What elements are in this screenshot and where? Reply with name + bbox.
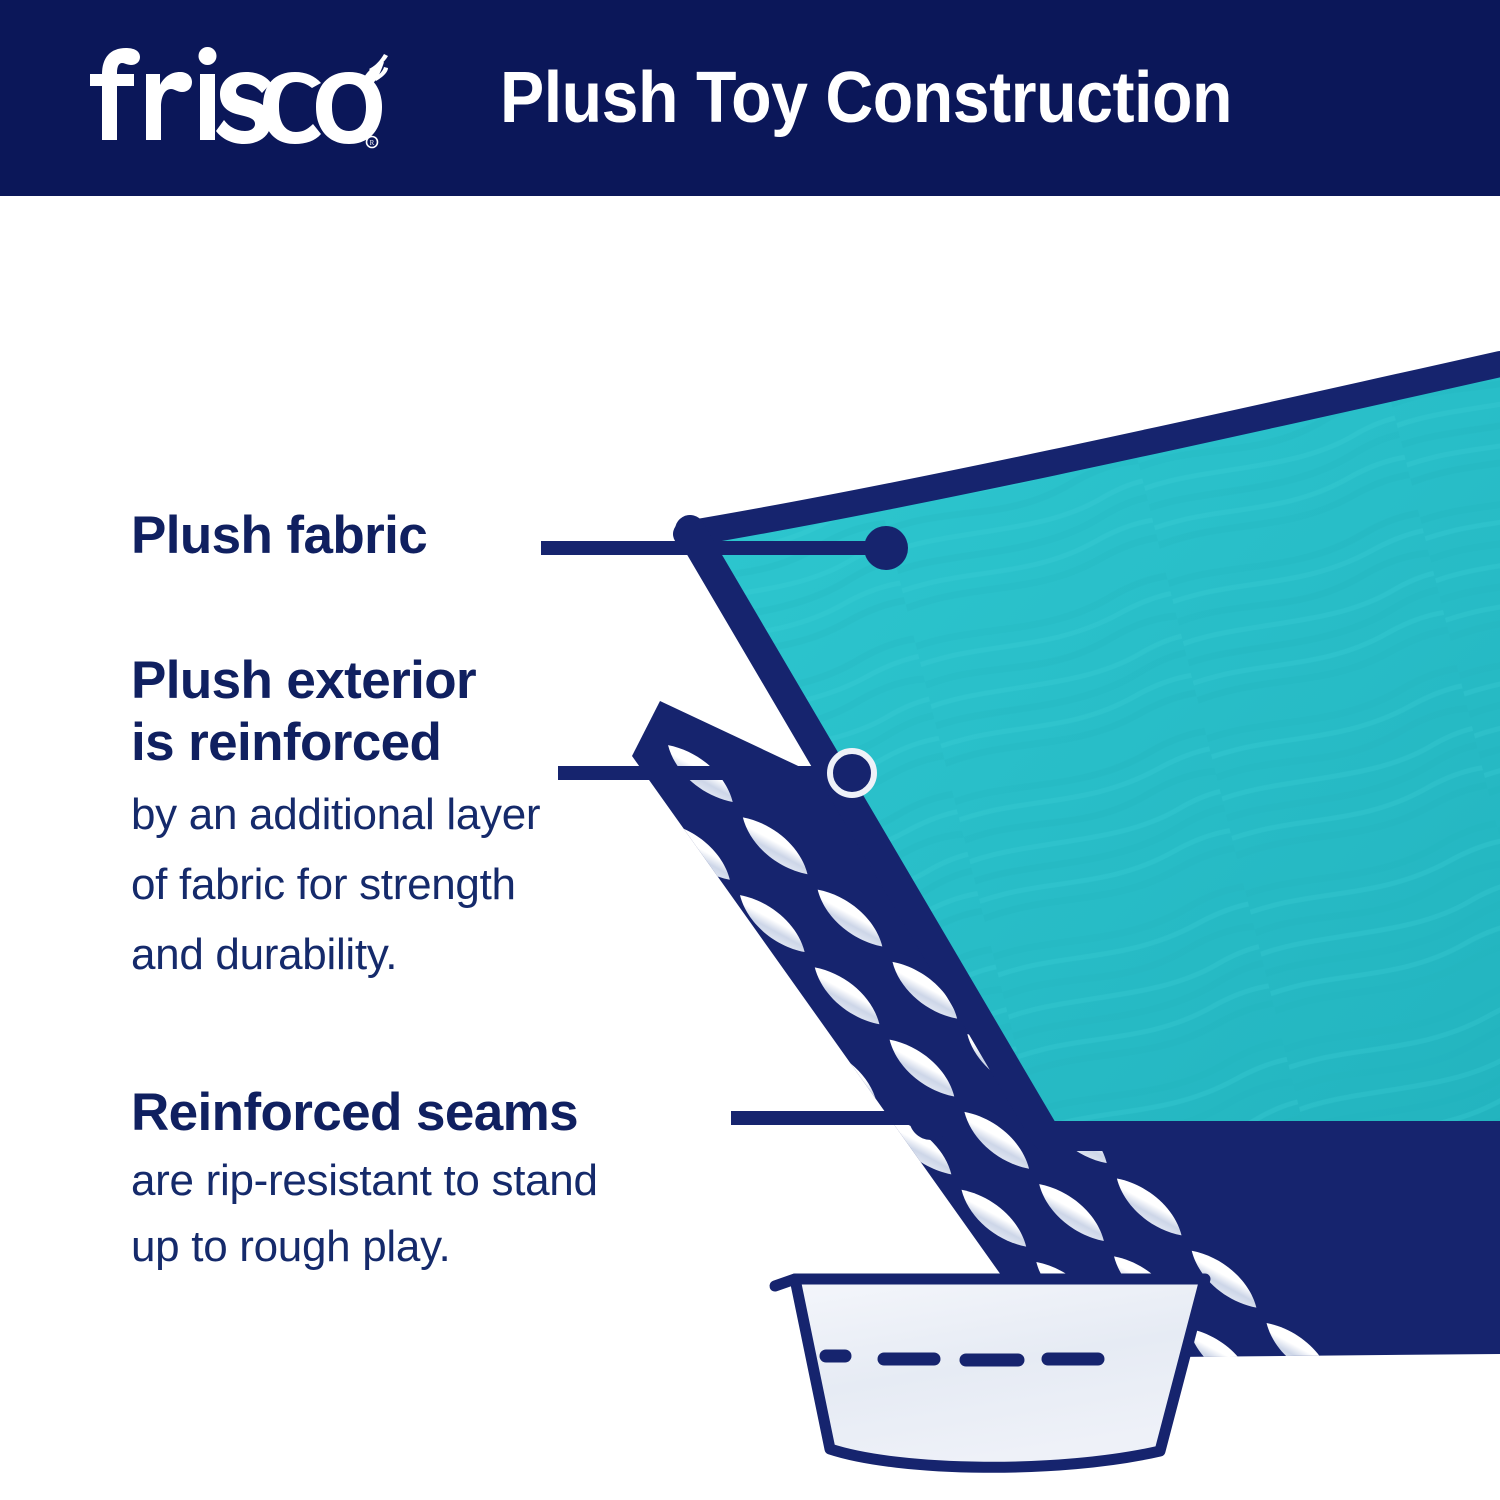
header-bar: R Plush Toy Construction [0,0,1500,196]
callout-reinforced-seams: Reinforced seams are rip-resistant to st… [131,1082,598,1276]
frisco-logo: R [88,42,388,152]
callout-plush-exterior-body-line-1: by an additional layer [131,786,540,844]
callout-reinforced-seams-heading: Reinforced seams [131,1082,598,1144]
svg-text:R: R [370,139,375,147]
callout-plush-exterior: Plush exterior is reinforced by an addit… [131,650,540,984]
page-title: Plush Toy Construction [500,0,1232,196]
plush-fabric-layer [686,364,1500,1136]
callout-reinforced-seams-body-line-2: up to rough play. [131,1218,598,1276]
callout-reinforced-seams-body-line-1: are rip-resistant to stand [131,1152,598,1210]
seam-flap-layer [775,1279,1205,1467]
infographic-stage: R Plush Toy Construction [0,0,1500,1500]
callout-plush-exterior-heading-line-1: Plush exterior [131,650,540,712]
callout-plush-exterior-body-line-3: and durability. [131,926,540,984]
callout-plush-fabric: Plush fabric [131,505,427,567]
callout-plush-exterior-heading-line-2: is reinforced [131,712,540,774]
leader-reinforced-seams [738,1096,953,1140]
callout-plush-exterior-body-line-2: of fabric for strength [131,856,540,914]
callout-plush-fabric-heading: Plush fabric [131,505,427,567]
